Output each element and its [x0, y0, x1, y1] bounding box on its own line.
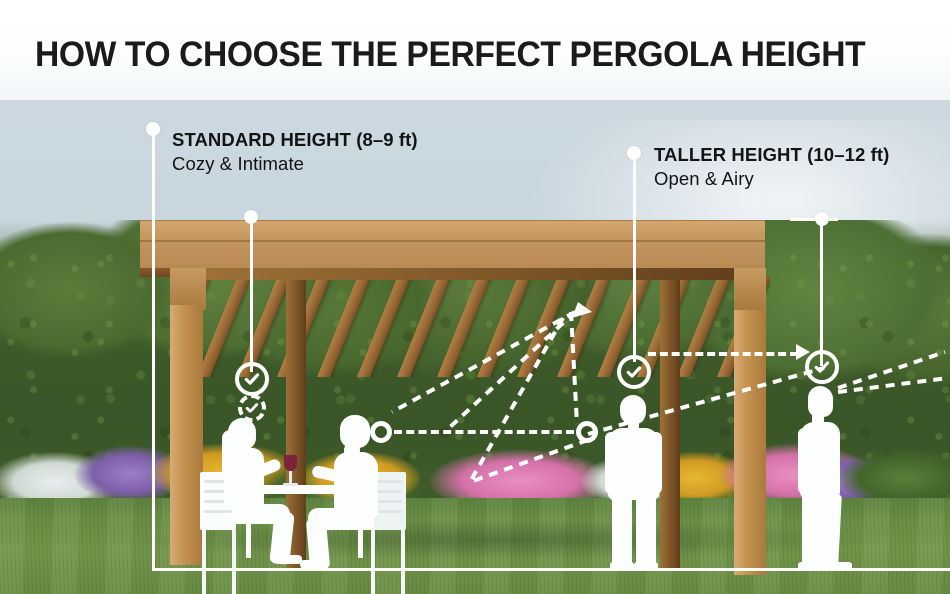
check-circle-icon[interactable] — [617, 355, 651, 389]
leader-dot-icon — [146, 122, 160, 136]
measure-node-icon[interactable] — [576, 421, 598, 443]
pergola-post-back-right — [660, 280, 680, 570]
callout-heading: STANDARD HEIGHT (8–9 ft) — [172, 128, 418, 151]
leader-line-standard — [152, 128, 155, 570]
leader-elbow-taller — [790, 218, 838, 221]
pergola-post-front-right — [734, 305, 766, 575]
measure-span-dashed — [394, 430, 574, 434]
beam-seam — [140, 240, 765, 242]
check-circle-icon[interactable] — [235, 362, 269, 396]
callout-taller-height: TALLER HEIGHT (10–12 ft) Open & Airy — [654, 143, 889, 193]
corbel-left — [170, 268, 206, 310]
inner-beam — [206, 268, 766, 280]
leader-line-taller-right — [820, 220, 823, 366]
infographic-canvas: HOW TO CHOOSE THE PERFECT PERGOLA HEIGHT — [0, 0, 950, 594]
leader-dot-icon — [244, 210, 258, 224]
leader-line-standard-check — [250, 216, 253, 372]
leader-dot-icon — [627, 146, 641, 160]
check-circle-icon[interactable] — [805, 350, 839, 384]
callout-subheading: Cozy & Intimate — [172, 151, 418, 178]
leader-line-taller — [633, 152, 636, 362]
pergola-header-beam — [140, 220, 765, 268]
callout-subheading: Open & Airy — [654, 166, 889, 193]
pergola-post-front-left — [170, 305, 203, 565]
baseline-line — [152, 568, 950, 571]
check-circle-dashed-icon[interactable] — [238, 394, 266, 422]
callout-standard-height: STANDARD HEIGHT (8–9 ft) Cozy & Intimate — [172, 128, 418, 178]
measure-node-icon[interactable] — [370, 421, 392, 443]
page-title: HOW TO CHOOSE THE PERFECT PERGOLA HEIGHT — [35, 35, 889, 75]
arrowhead-icon — [796, 344, 810, 360]
leader-dot-icon — [815, 212, 829, 226]
dashed-arrow-icon — [648, 352, 798, 356]
pergola-rafters — [170, 277, 770, 377]
corbel-right — [734, 268, 766, 310]
callout-heading: TALLER HEIGHT (10–12 ft) — [654, 143, 889, 166]
